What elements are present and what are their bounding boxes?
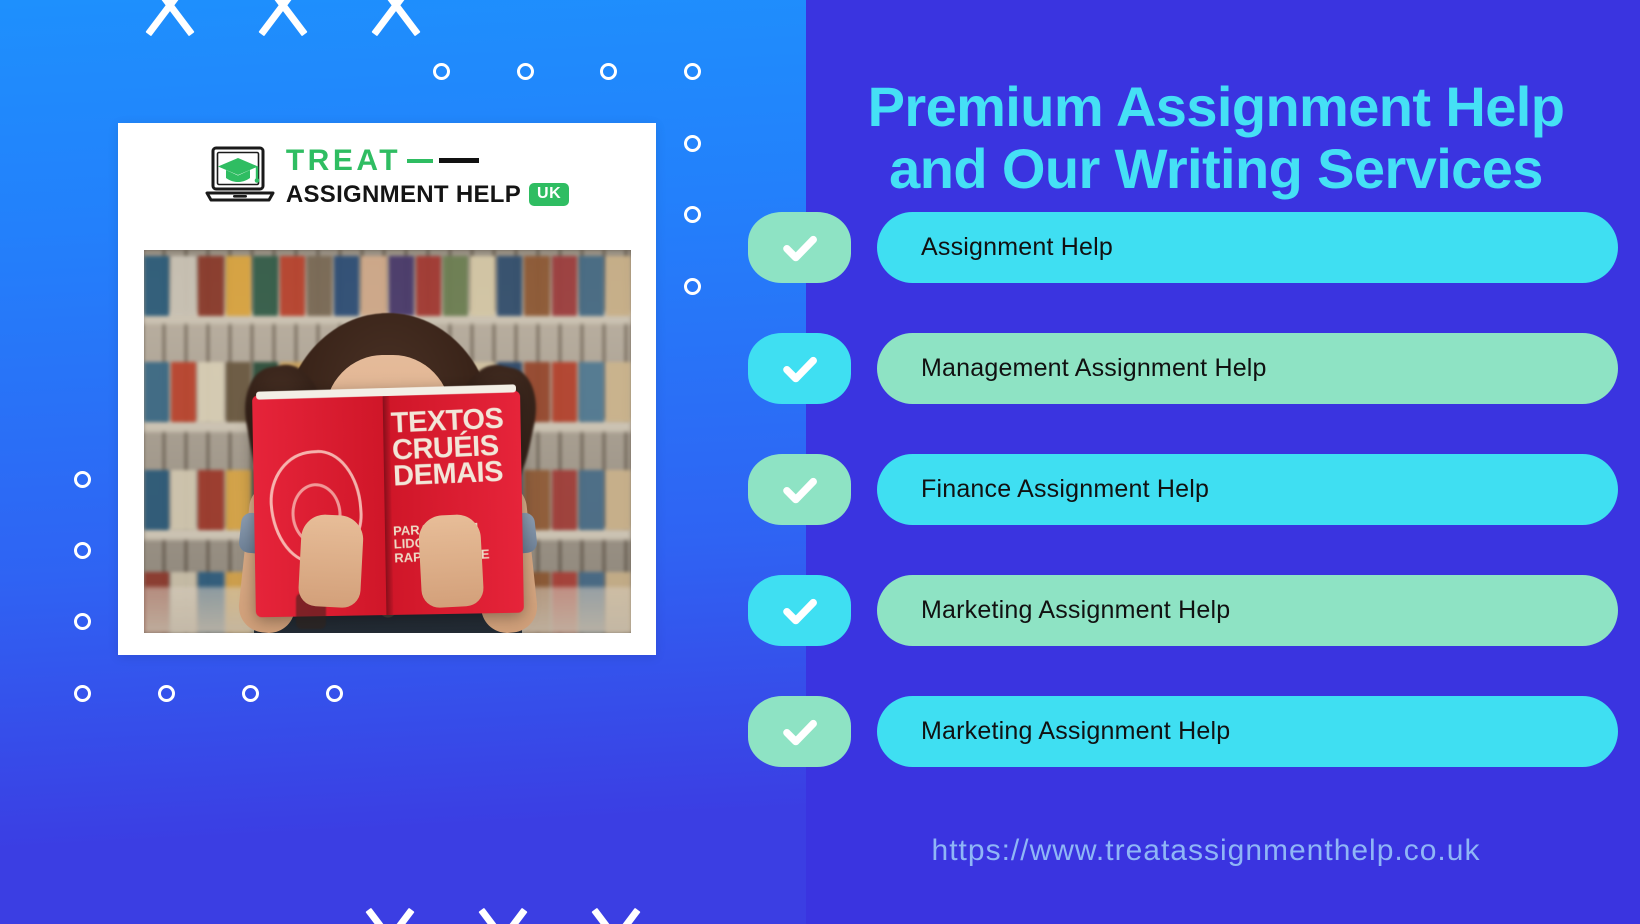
checkbox-checked[interactable] bbox=[748, 212, 851, 283]
chevron-row-bottom bbox=[330, 890, 669, 924]
decor-dot bbox=[433, 63, 450, 80]
check-icon bbox=[779, 590, 821, 632]
service-label: Management Assignment Help bbox=[921, 354, 1267, 383]
check-icon bbox=[779, 711, 821, 753]
service-label: Marketing Assignment Help bbox=[921, 717, 1230, 746]
decor-dot bbox=[684, 135, 701, 152]
service-pill[interactable]: Finance Assignment Help bbox=[877, 454, 1618, 525]
decor-dot bbox=[242, 685, 259, 702]
services-list: Assignment Help Management Assignment He… bbox=[748, 212, 1618, 817]
service-label: Assignment Help bbox=[921, 233, 1113, 262]
chevron-down-icon bbox=[110, 0, 223, 44]
decor-dot bbox=[326, 685, 343, 702]
chevron-down-icon bbox=[223, 0, 336, 44]
logo-brand-secondary: ASSIGNMENT HELP bbox=[286, 183, 521, 207]
service-pill[interactable]: Management Assignment Help bbox=[877, 333, 1618, 404]
service-label: Finance Assignment Help bbox=[921, 475, 1209, 504]
decor-dot bbox=[158, 685, 175, 702]
book-title: TEXTOS CRUÉIS DEMAIS bbox=[390, 405, 516, 490]
check-icon bbox=[779, 469, 821, 511]
decor-dot bbox=[684, 206, 701, 223]
check-icon bbox=[779, 227, 821, 269]
left-panel: TREAT ASSIGNMENT HELP UK bbox=[0, 0, 806, 924]
right-panel: Premium Assignment Help and Our Writing … bbox=[806, 0, 1640, 924]
photo-card: TREAT ASSIGNMENT HELP UK bbox=[118, 123, 656, 655]
checkbox-checked[interactable] bbox=[748, 696, 851, 767]
chevron-up-icon bbox=[556, 890, 669, 924]
chevron-up-icon bbox=[443, 890, 556, 924]
logo-dash-green bbox=[407, 159, 433, 163]
poster-canvas: TREAT ASSIGNMENT HELP UK bbox=[0, 0, 1640, 924]
logo-country-badge: UK bbox=[529, 183, 569, 206]
brand-logo: TREAT ASSIGNMENT HELP UK bbox=[118, 145, 656, 207]
headline-line-1: Premium Assignment Help bbox=[868, 75, 1565, 138]
service-pill[interactable]: Marketing Assignment Help bbox=[877, 696, 1618, 767]
checkbox-checked[interactable] bbox=[748, 575, 851, 646]
headline-line-2: and Our Writing Services bbox=[806, 138, 1626, 201]
list-item[interactable]: Marketing Assignment Help bbox=[748, 575, 1618, 646]
service-pill[interactable]: Marketing Assignment Help bbox=[877, 575, 1618, 646]
decor-dot bbox=[684, 63, 701, 80]
decor-dot bbox=[74, 613, 91, 630]
list-item[interactable]: Assignment Help bbox=[748, 212, 1618, 283]
logo-dash-black bbox=[439, 158, 479, 163]
website-url[interactable]: https://www.treatassignmenthelp.co.uk bbox=[806, 834, 1606, 868]
decor-dot bbox=[517, 63, 534, 80]
service-label: Marketing Assignment Help bbox=[921, 596, 1230, 625]
list-item[interactable]: Marketing Assignment Help bbox=[748, 696, 1618, 767]
logo-brand-primary: TREAT bbox=[286, 146, 401, 176]
checkbox-checked[interactable] bbox=[748, 333, 851, 404]
hand-left bbox=[297, 513, 364, 608]
checkbox-checked[interactable] bbox=[748, 454, 851, 525]
decor-dot bbox=[74, 471, 91, 488]
chevron-down-icon bbox=[336, 0, 449, 44]
decor-dot bbox=[684, 278, 701, 295]
chevron-up-icon bbox=[330, 890, 443, 924]
laptop-graduation-cap-icon bbox=[205, 145, 275, 207]
book-title-line: DEMAIS bbox=[393, 459, 517, 491]
decor-dot bbox=[600, 63, 617, 80]
service-pill[interactable]: Assignment Help bbox=[877, 212, 1618, 283]
list-item[interactable]: Finance Assignment Help bbox=[748, 454, 1618, 525]
hand-right bbox=[417, 513, 484, 608]
page-title: Premium Assignment Help and Our Writing … bbox=[806, 76, 1626, 201]
library-photo: TEXTOS CRUÉIS DEMAIS PARA SEREM LIDOS RA… bbox=[144, 250, 631, 633]
decor-dot bbox=[74, 685, 91, 702]
list-item[interactable]: Management Assignment Help bbox=[748, 333, 1618, 404]
person-figure: TEXTOS CRUÉIS DEMAIS PARA SEREM LIDOS RA… bbox=[238, 303, 538, 633]
check-icon bbox=[779, 348, 821, 390]
chevron-row-top bbox=[110, 0, 449, 44]
decor-dot bbox=[74, 542, 91, 559]
